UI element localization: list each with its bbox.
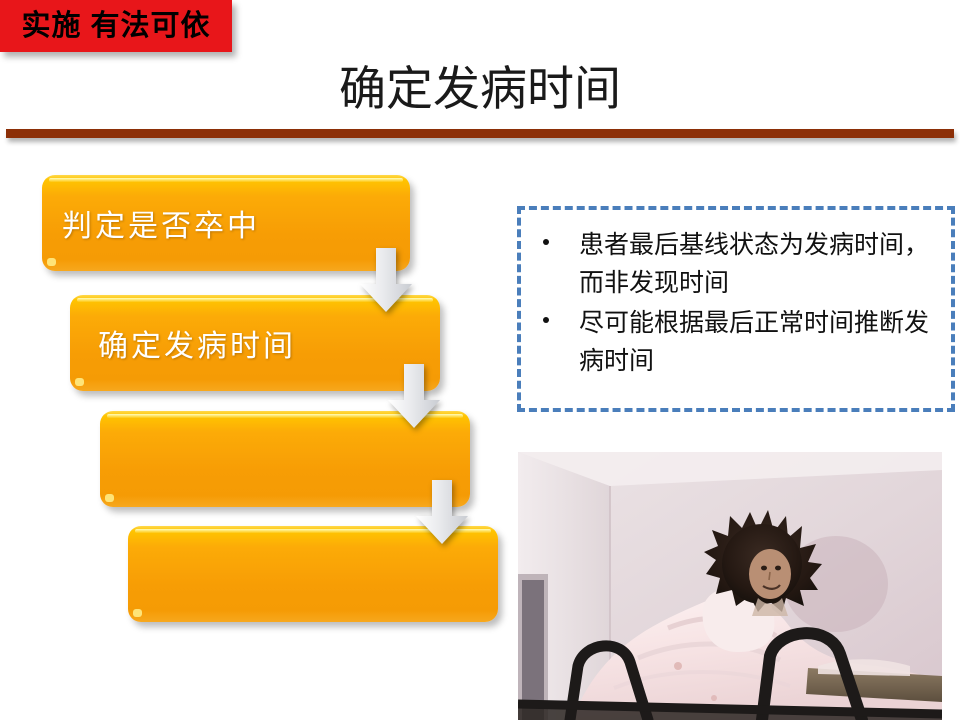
flow-step-2-label: 确定发病时间: [98, 321, 296, 365]
list-item: 患者最后基线状态为发病时间，而非发现时间: [531, 226, 941, 302]
bullet-icon: [543, 317, 549, 323]
flow-step-1[interactable]: 判定是否卒中: [42, 175, 410, 271]
callout-bullet-list: 患者最后基线状态为发病时间，而非发现时间 尽可能根据最后正常时间推断发病时间: [521, 210, 951, 380]
down-arrow-icon: [360, 248, 412, 312]
list-item: 尽可能根据最后正常时间推断发病时间: [531, 304, 941, 380]
down-arrow-icon: [416, 480, 468, 544]
callout-bullet-1-text: 患者最后基线状态为发病时间，而非发现时间: [579, 231, 929, 297]
callout-bullet-2-text: 尽可能根据最后正常时间推断发病时间: [579, 309, 929, 375]
bullet-icon: [543, 239, 549, 245]
down-arrow-icon: [388, 364, 440, 428]
patient-in-bed-photo: [518, 452, 942, 720]
flow-step-1-label: 判定是否卒中: [62, 201, 260, 245]
slide-canvas: 实施 有法可依 确定发病时间 判定是否卒中 确定发病时间: [0, 0, 960, 720]
flowchart: 判定是否卒中 确定发病时间: [0, 0, 510, 720]
callout-box: 患者最后基线状态为发病时间，而非发现时间 尽可能根据最后正常时间推断发病时间: [517, 206, 955, 412]
